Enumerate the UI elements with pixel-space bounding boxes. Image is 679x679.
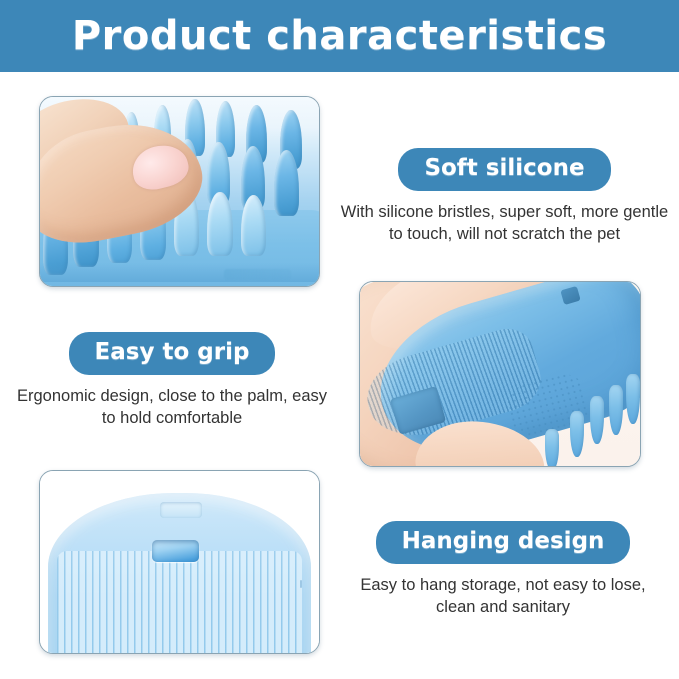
description-soft-silicone: With silicone bristles, super soft, more… — [330, 202, 679, 246]
feature-easy-to-grip: Easy to grip Ergonomic design, close to … — [0, 332, 344, 430]
page-title: Product characteristics — [72, 16, 607, 56]
description-easy-to-grip: Ergonomic design, close to the palm, eas… — [0, 386, 344, 430]
photo-soft-silicone-canvas — [40, 97, 319, 286]
back-ribbed-texture — [57, 551, 303, 653]
top-recess-slot — [160, 502, 202, 518]
brush-embossed-text — [224, 269, 291, 280]
description-hanging-design: Easy to hang storage, not easy to lose, … — [338, 575, 668, 619]
feature-soft-silicone: Soft silicone With silicone bristles, su… — [330, 148, 679, 246]
badge-hanging-design: Hanging design — [376, 521, 631, 564]
photo-hanging-design-canvas — [40, 471, 319, 653]
feature-hanging-design: Hanging design Easy to hang storage, not… — [338, 521, 668, 619]
photo-easy-to-grip — [359, 281, 641, 467]
brush-tooth — [545, 429, 559, 466]
brush-tooth — [626, 374, 640, 424]
silicone-bristle — [207, 192, 232, 256]
brush-tooth — [590, 396, 604, 444]
hanging-slot-hole — [152, 540, 199, 562]
product-characteristics-infographic: Product characteristics — [0, 0, 679, 679]
photo-hanging-design — [39, 470, 320, 654]
badge-easy-to-grip: Easy to grip — [69, 332, 276, 375]
surface-speck — [300, 580, 302, 588]
photo-easy-to-grip-canvas — [360, 282, 640, 466]
photo-soft-silicone — [39, 96, 320, 287]
badge-soft-silicone: Soft silicone — [398, 148, 610, 191]
header-banner: Product characteristics — [0, 0, 679, 72]
